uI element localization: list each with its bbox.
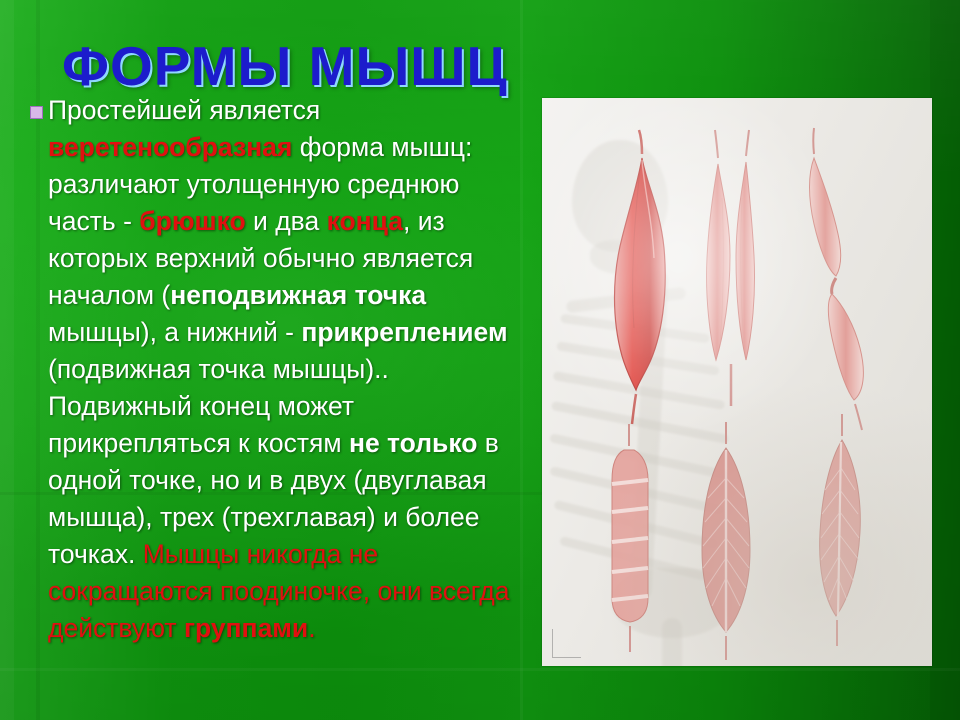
bullet-item: Простейшей является веретенообразная фор… — [22, 92, 522, 647]
text-segment-highlight: конца — [327, 206, 403, 236]
text-segment: мышцы), а нижний - — [48, 317, 301, 347]
page-title: ФОРМЫ МЫШЦ — [62, 34, 508, 98]
text-segment-bold: прикреплением — [301, 317, 507, 347]
text-segment-bold: неподвижная точка — [170, 280, 426, 310]
illustration-corner-mark — [552, 629, 581, 658]
content-body: Простейшей является веретенообразная фор… — [22, 92, 522, 647]
text-segment-highlight: группами — [184, 613, 308, 643]
text-segment: Простейшей является — [48, 95, 320, 125]
muscle-shapes-illustration — [542, 98, 932, 666]
illustration-overlay — [542, 98, 932, 666]
text-segment-highlight: . — [308, 613, 315, 643]
text-segment-highlight: брюшко — [139, 206, 245, 236]
text-segment: (подвижная точка мышцы).. Подвижный коне… — [48, 354, 389, 458]
slide: ФОРМЫ МЫШЦ Простейшей является веретеноо… — [0, 0, 960, 720]
text-segment-bold: не только — [349, 428, 478, 458]
bullet-text: Простейшей является веретенообразная фор… — [48, 92, 522, 647]
text-segment-highlight: веретенообразная — [48, 132, 292, 162]
bullet-square-icon — [22, 92, 48, 119]
text-segment: и два — [246, 206, 327, 236]
